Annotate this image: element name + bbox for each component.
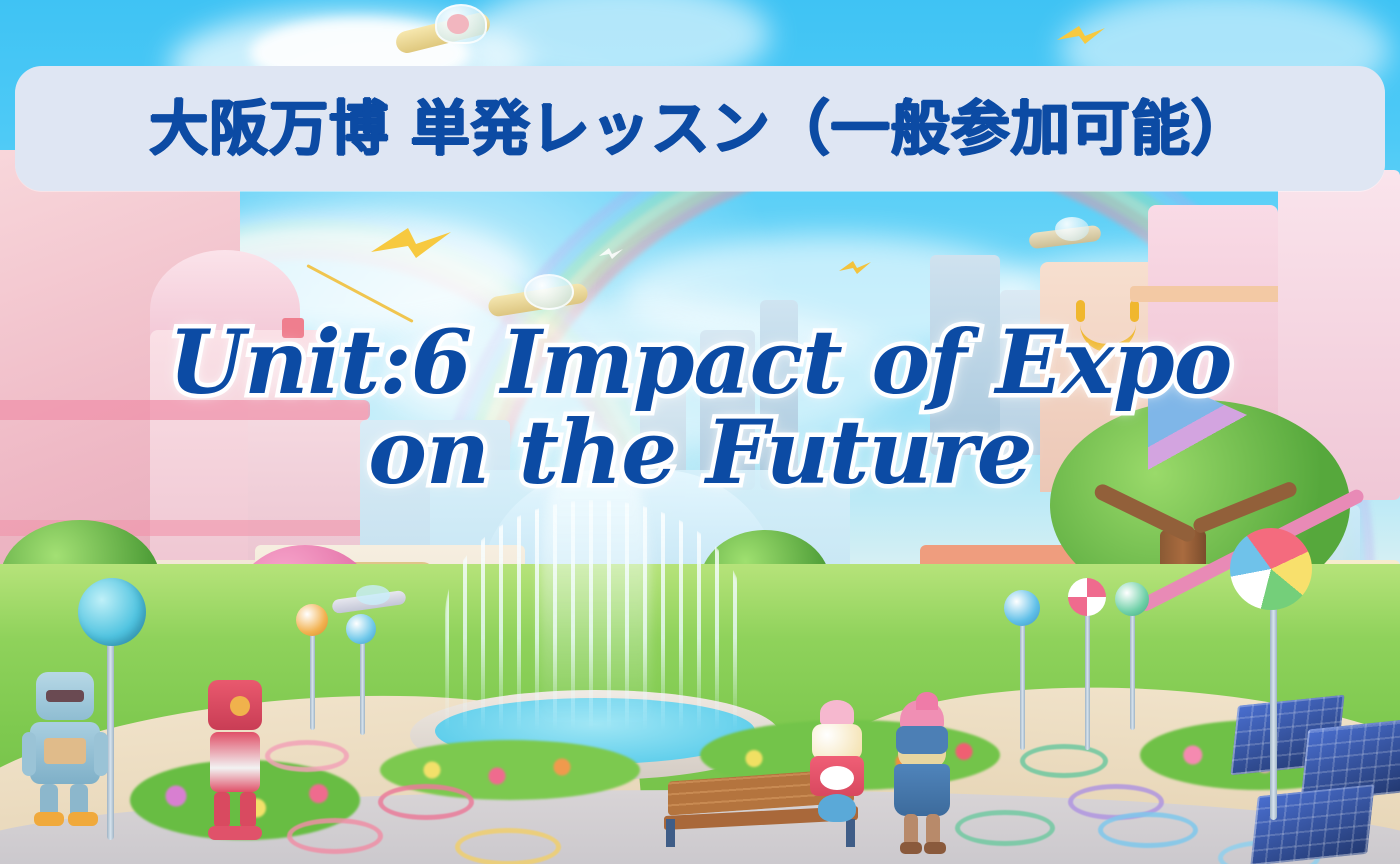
lollipop-post — [1130, 600, 1135, 730]
flying-pod-vehicle — [385, 0, 495, 62]
lesson-title-line-2: on the Future — [0, 408, 1400, 498]
header-banner: 大阪万博 単発レッスン（一般参加可能） — [15, 66, 1385, 191]
robot-character — [22, 672, 108, 822]
lollipop-head — [296, 604, 328, 636]
lollipop-head — [1230, 528, 1312, 610]
path-glow-circle — [287, 818, 383, 854]
path-glow-circle — [955, 810, 1055, 846]
lollipop-post — [107, 640, 114, 840]
path-glow-circle — [265, 740, 349, 772]
lollipop-head — [1004, 590, 1040, 626]
lesson-title: Unit:6 Impact of Expo on the Future — [0, 318, 1400, 498]
lollipop-post — [1085, 600, 1090, 750]
lollipop-head — [346, 614, 376, 644]
mascot-character-red — [200, 680, 270, 840]
bird-icon — [368, 222, 454, 266]
bird-icon — [1055, 22, 1107, 52]
lollipop-head — [1115, 582, 1149, 616]
lollipop-post — [1270, 590, 1277, 820]
building-ledge — [1130, 286, 1300, 302]
path-glow-circle — [1020, 744, 1108, 778]
mascot-character-pink — [808, 700, 866, 830]
poster-canvas: 大阪万博 単発レッスン（一般参加可能） Unit:6 Impact of Exp… — [0, 0, 1400, 864]
solar-panel — [1250, 784, 1374, 864]
lollipop-head — [1068, 578, 1106, 616]
lollipop-post — [310, 620, 315, 730]
lollipop-head — [78, 578, 146, 646]
banner-title-text: 大阪万博 単発レッスン（一般参加可能） — [149, 99, 1251, 158]
path-glow-circle — [378, 784, 474, 820]
path-glow-circle — [455, 828, 561, 864]
flying-pod-vehicle — [1025, 215, 1105, 255]
path-glow-circle — [1098, 812, 1198, 848]
bird-icon — [838, 258, 872, 278]
lesson-title-line-1: Unit:6 Impact of Expo — [169, 310, 1232, 414]
girl-character — [890, 700, 956, 860]
flying-pod-vehicle — [330, 585, 410, 617]
bird-icon — [598, 246, 624, 262]
lollipop-post — [1020, 610, 1025, 750]
lollipop-post — [360, 630, 365, 735]
